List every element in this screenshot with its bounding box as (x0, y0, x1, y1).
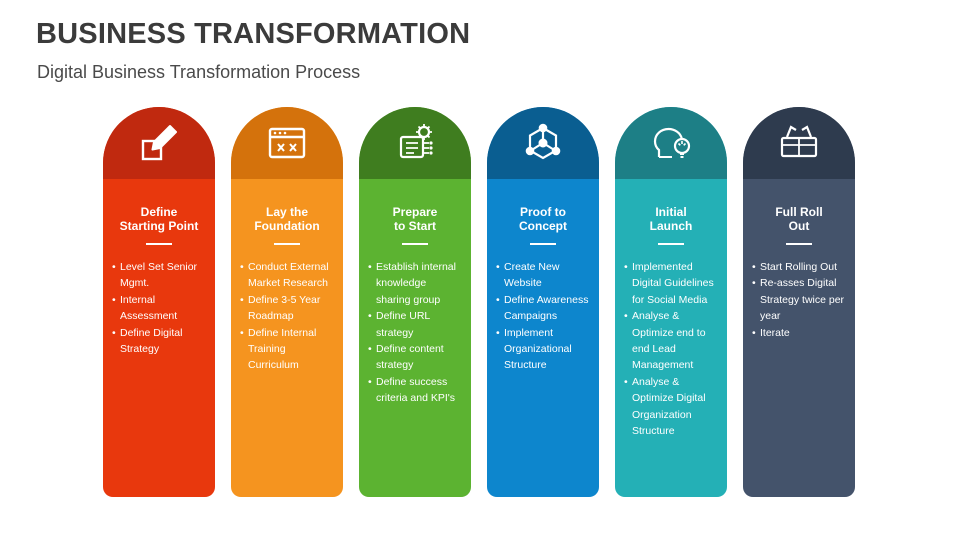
slide: BUSINESS TRANSFORMATION Digital Business… (0, 0, 960, 540)
process-columns: Define Starting PointLevel Set Senior Mg… (103, 107, 863, 497)
heading-divider (786, 243, 812, 245)
list-item: Re-asses Digital Strategy twice per year (752, 275, 846, 324)
process-column[interactable]: Initial LaunchImplemented Digital Guidel… (615, 107, 727, 497)
process-column[interactable]: Lay the FoundationConduct External Marke… (231, 107, 343, 497)
heading-divider (274, 243, 300, 245)
list-item: Create New Website (496, 259, 590, 292)
heading-divider (146, 243, 172, 245)
process-column-icon-area (103, 107, 215, 179)
process-column-heading: Prepare to Start (368, 205, 462, 233)
process-column-bullets: Conduct External Market ResearchDefine 3… (240, 259, 334, 374)
list-item: Define content strategy (368, 341, 462, 374)
heading-divider (658, 243, 684, 245)
process-column[interactable]: Proof to ConceptCreate New WebsiteDefine… (487, 107, 599, 497)
page-title: BUSINESS TRANSFORMATION (36, 18, 470, 51)
process-column-bullets: Establish internal knowledge sharing gro… (368, 259, 462, 407)
process-column-body: Full Roll OutStart Rolling OutRe-asses D… (743, 179, 855, 497)
process-column-body: Proof to ConceptCreate New WebsiteDefine… (487, 179, 599, 497)
heading-divider (402, 243, 428, 245)
process-column[interactable]: Full Roll OutStart Rolling OutRe-asses D… (743, 107, 855, 497)
pencil-square-icon (136, 120, 182, 166)
list-item: Establish internal knowledge sharing gro… (368, 259, 462, 308)
list-item: Conduct External Market Research (240, 259, 334, 292)
list-item: Start Rolling Out (752, 259, 846, 275)
list-item: Define success criteria and KPI's (368, 374, 462, 407)
process-column-bullets: Create New WebsiteDefine Awareness Campa… (496, 259, 590, 374)
list-item: Define URL strategy (368, 308, 462, 341)
presentation-board-icon (776, 120, 822, 166)
process-column-heading: Full Roll Out (752, 205, 846, 233)
process-column-body: Prepare to StartEstablish internal knowl… (359, 179, 471, 497)
process-column[interactable]: Prepare to StartEstablish internal knowl… (359, 107, 471, 497)
list-item: Analyse & Optimize Digital Organization … (624, 374, 718, 440)
list-item: Internal Assessment (112, 292, 206, 325)
process-column-icon-area (231, 107, 343, 179)
process-column-heading: Initial Launch (624, 205, 718, 233)
browser-window-icon (264, 120, 310, 166)
process-column-icon-area (743, 107, 855, 179)
page-subtitle: Digital Business Transformation Process (37, 62, 360, 83)
list-item: Define Internal Training Curriculum (240, 325, 334, 374)
process-column[interactable]: Define Starting PointLevel Set Senior Mg… (103, 107, 215, 497)
process-column-body: Define Starting PointLevel Set Senior Mg… (103, 179, 215, 497)
process-column-heading: Lay the Foundation (240, 205, 334, 233)
list-item: Define 3-5 Year Roadmap (240, 292, 334, 325)
list-item: Define Digital Strategy (112, 325, 206, 358)
list-item: Level Set Senior Mgmt. (112, 259, 206, 292)
gear-document-icon (392, 120, 438, 166)
process-column-icon-area (359, 107, 471, 179)
process-column-heading: Define Starting Point (112, 205, 206, 233)
process-column-body: Lay the FoundationConduct External Marke… (231, 179, 343, 497)
list-item: Iterate (752, 325, 846, 341)
process-column-icon-area (487, 107, 599, 179)
process-column-heading: Proof to Concept (496, 205, 590, 233)
heading-divider (530, 243, 556, 245)
list-item: Implement Organizational Structure (496, 325, 590, 374)
list-item: Analyse & Optimize end to end Lead Manag… (624, 308, 718, 374)
list-item: Define Awareness Campaigns (496, 292, 590, 325)
head-idea-icon (648, 120, 694, 166)
process-column-body: Initial LaunchImplemented Digital Guidel… (615, 179, 727, 497)
process-column-icon-area (615, 107, 727, 179)
list-item: Implemented Digital Guidelines for Socia… (624, 259, 718, 308)
network-node-icon (520, 120, 566, 166)
process-column-bullets: Implemented Digital Guidelines for Socia… (624, 259, 718, 439)
process-column-bullets: Level Set Senior Mgmt.Internal Assessmen… (112, 259, 206, 357)
process-column-bullets: Start Rolling OutRe-asses Digital Strate… (752, 259, 846, 341)
